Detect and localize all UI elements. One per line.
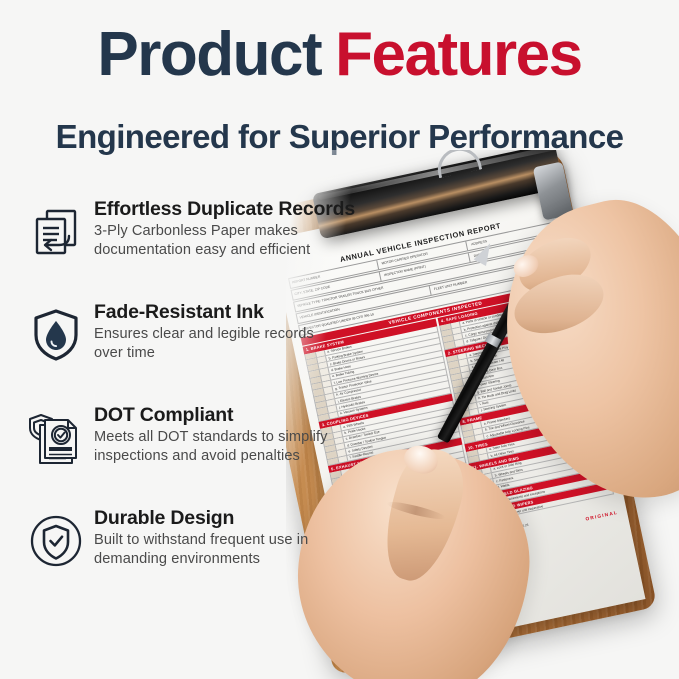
feature-title: Durable Design — [94, 507, 308, 530]
page-title-part1: Product — [97, 20, 321, 89]
duplicate-documents-icon — [18, 196, 94, 268]
feature-desc-line: Meets all DOT standards to simplify — [94, 429, 328, 445]
feature-item: DOT Compliant Meets all DOT standards to… — [18, 402, 358, 478]
page-title: ProductFeatures — [0, 24, 679, 86]
feature-desc-line: over time — [94, 345, 155, 361]
feature-desc-line: demanding environments — [94, 551, 260, 567]
feature-desc: 3-Ply Carbonless Paper makes documentati… — [94, 222, 355, 261]
feature-desc: Ensures clear and legible records over t… — [94, 325, 314, 364]
feature-title: Fade-Resistant Ink — [94, 301, 314, 324]
feature-desc-line: Ensures clear and legible records — [94, 326, 314, 342]
feature-title: DOT Compliant — [94, 404, 328, 427]
feature-desc-line: Built to withstand frequent use in — [94, 532, 308, 548]
feature-item: Fade-Resistant Ink Ensures clear and leg… — [18, 299, 358, 375]
feature-list: Effortless Duplicate Records 3-Ply Carbo… — [18, 196, 358, 608]
feature-text: Fade-Resistant Ink Ensures clear and leg… — [94, 299, 314, 364]
infographic-canvas: ProductFeatures Engineered for Superior … — [0, 0, 679, 679]
feature-desc-line: documentation easy and efficient — [94, 242, 310, 258]
feature-text: Effortless Duplicate Records 3-Ply Carbo… — [94, 196, 355, 261]
feature-desc-line: 3-Ply Carbonless Paper makes — [94, 223, 298, 239]
circle-shield-check-icon — [18, 505, 94, 577]
feature-item: Durable Design Built to withstand freque… — [18, 505, 358, 581]
feature-item: Effortless Duplicate Records 3-Ply Carbo… — [18, 196, 358, 272]
feature-text: Durable Design Built to withstand freque… — [94, 505, 308, 570]
feature-desc-line: inspections and avoid penalties — [94, 448, 300, 464]
page-title-part2: Features — [335, 20, 581, 89]
feature-text: DOT Compliant Meets all DOT standards to… — [94, 402, 328, 467]
feature-title: Effortless Duplicate Records — [94, 198, 355, 221]
shield-document-check-icon — [18, 402, 94, 474]
shield-ink-drop-icon — [18, 299, 94, 371]
feature-desc: Meets all DOT standards to simplify insp… — [94, 428, 328, 467]
feature-desc: Built to withstand frequent use in deman… — [94, 531, 308, 570]
